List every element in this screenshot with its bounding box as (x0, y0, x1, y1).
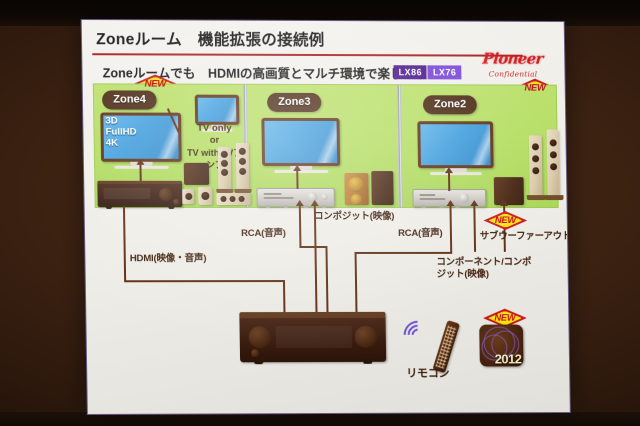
screenshot-stage: Zoneルーム 機能拡張の接続例 Zoneルームでも HDMIの高画質とマルチ環… (0, 0, 640, 426)
confidential-mark: Confidential (467, 69, 558, 78)
projected-slide: Zoneルーム 機能拡張の接続例 Zoneルームでも HDMIの高画質とマルチ環… (82, 20, 570, 414)
rca2-line-drop (355, 252, 358, 314)
rca2-line-up (449, 206, 452, 254)
new-badge-subout: NEW (483, 211, 527, 230)
arrow-line-zone3-tv (296, 171, 298, 189)
rca1-line-drop (325, 246, 328, 314)
av-receiver-zone4 (97, 181, 182, 207)
page-title: Zoneルーム 機能拡張の接続例 (96, 27, 554, 51)
floorstander-left-zone4 (218, 147, 232, 191)
tv-spec-text: 3D FullHD 4K (105, 116, 136, 149)
bookshelf-right-zone3 (371, 171, 393, 205)
connection-label-subout: サブウーファーアウト (480, 231, 546, 242)
composite-line (314, 206, 317, 314)
rca2-arrow (446, 200, 454, 206)
tv-zone2 (417, 121, 493, 175)
wireless-signal-icon (404, 321, 434, 353)
rca1-line-across (299, 246, 327, 248)
arrow-head-zone2-tv (445, 167, 453, 173)
model-badges: LX86 LX76 (393, 65, 461, 79)
main-av-receiver (239, 312, 386, 362)
component-line (473, 206, 476, 252)
zones-panel: Zone4 3D FullHD 4K (93, 83, 559, 208)
composite-arrow (311, 200, 319, 206)
slide-canvas: Zoneルーム 機能拡張の接続例 Zoneルームでも HDMIの高画質とマルチ環… (82, 20, 570, 414)
pioneer-logo: Pioneer (466, 52, 559, 67)
subout-arrow (500, 200, 508, 206)
badge-lx86: LX86 (393, 65, 427, 79)
surround-left-zone4 (182, 189, 194, 204)
hdmi-line-drop (283, 280, 285, 314)
floorstander-right-zone4 (236, 143, 250, 191)
connection-label-component: コンポーネント/コンポジット(映像) (436, 257, 536, 281)
rca1-line-up (299, 206, 301, 248)
remote-control (432, 320, 460, 373)
zone-label-zone4: Zone4 (102, 90, 157, 109)
floorstander-right-zone2 (547, 129, 560, 197)
bookshelf-left-zone3 (344, 173, 368, 205)
connection-label-rca2: RCA(音声) (398, 228, 443, 239)
title-rule (92, 53, 522, 56)
arrow-line-zone4-tv (139, 165, 141, 181)
remote-label: リモコン (406, 369, 449, 380)
badge-lx76: LX76 (428, 65, 462, 79)
hdmi-line-horizontal (124, 280, 285, 282)
arrow-head-zone3-tv (293, 165, 301, 171)
center-speaker-zone4 (216, 193, 250, 205)
connection-label-rca1: RCA(音声) (241, 228, 286, 239)
surround-right-zone4 (198, 187, 212, 205)
zone-label-zone2: Zone2 (423, 95, 477, 114)
year-label: 2012 (495, 351, 522, 366)
hdmi-line-vertical (123, 206, 126, 282)
arrow-head-zone4-tv (136, 159, 144, 165)
connection-label-hdmi: HDMI(映像・音声) (130, 253, 207, 264)
subwoofer-zone2 (494, 177, 524, 205)
zone-label-zone3: Zone3 (267, 93, 322, 112)
rca2-line-across (355, 252, 453, 254)
zone-divider-2 (397, 85, 403, 207)
app-icon-2012: 2012 (479, 325, 523, 367)
connection-label-composite: コンポジット(映像) (314, 211, 394, 222)
rca1-arrow (296, 200, 304, 206)
subwoofer-zone4 (184, 163, 209, 185)
component-arrow (470, 200, 478, 206)
wall-bottom-shadow (0, 412, 640, 426)
brand-block: Pioneer Confidential (467, 52, 559, 79)
arrow-line-zone2-tv (448, 173, 450, 191)
floorstander-left-zone2 (529, 135, 543, 197)
